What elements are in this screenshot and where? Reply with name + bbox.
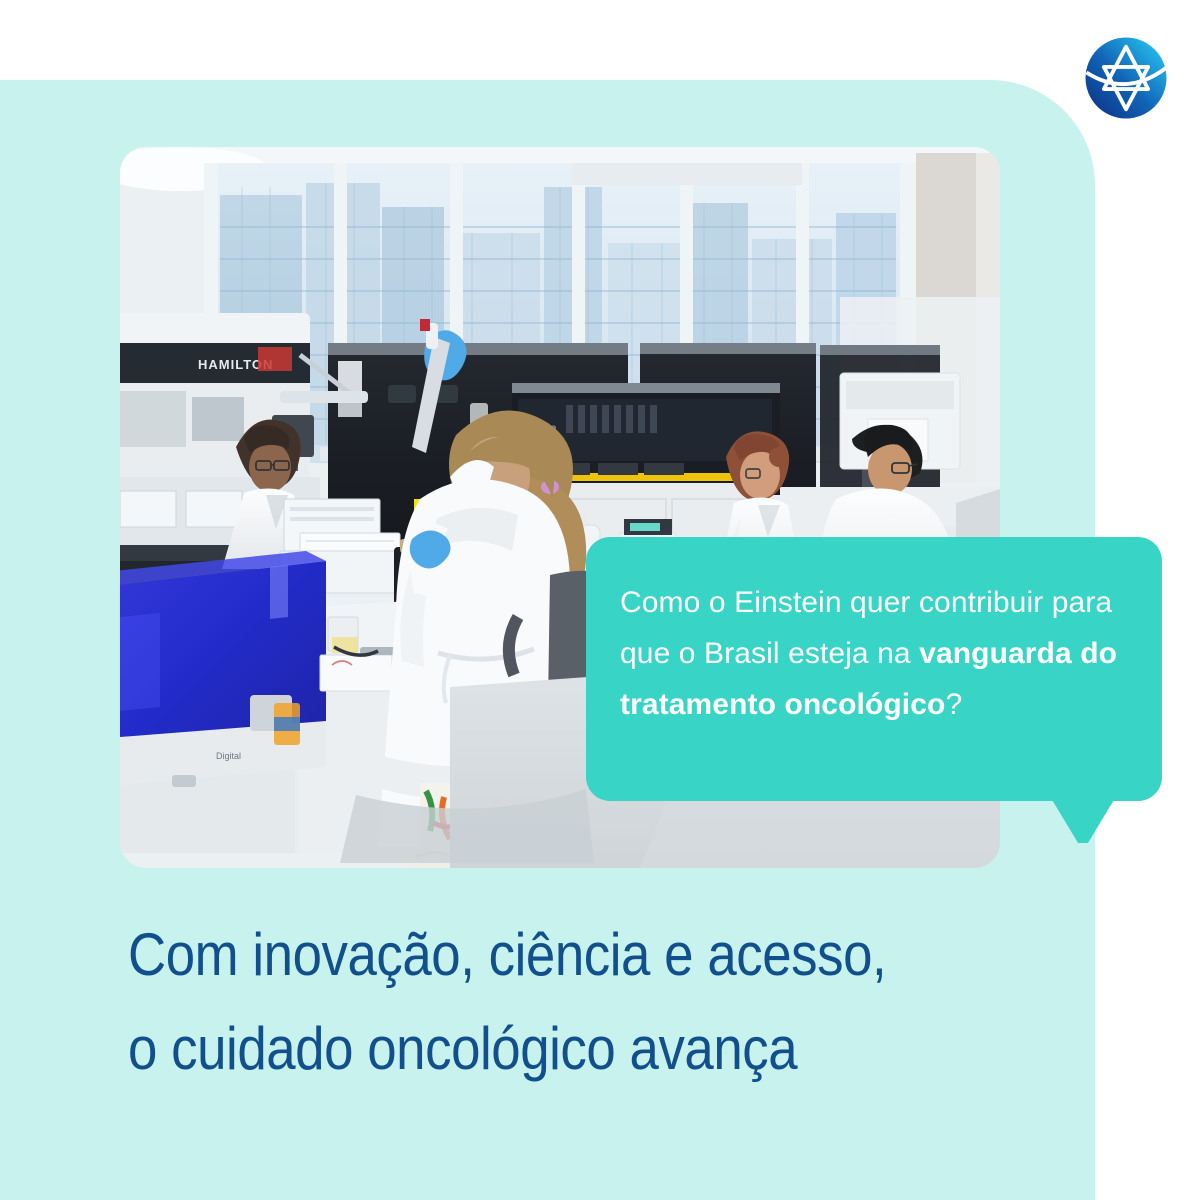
bubble-line-4-bold: tratamento oncológico (620, 688, 945, 721)
bubble-line-3-prefix: esteja na (788, 637, 919, 670)
headline-line-1: Com inovação, ciência e acesso, (128, 908, 946, 1002)
einstein-star-logo-icon (1080, 32, 1172, 124)
speech-bubble-tail (1052, 795, 1114, 843)
einstein-star-logo (1080, 32, 1172, 124)
bubble-line-4-suffix: ? (945, 688, 962, 721)
main-headline: Com inovação, ciência e acesso, o cuidad… (128, 908, 946, 1096)
speech-bubble-text: Como o Einstein quer contribuir para que… (620, 577, 1140, 730)
question-speech-bubble: Como o Einstein quer contribuir para que… (586, 537, 1162, 847)
bubble-line-1: Como o Einstein quer (620, 586, 911, 619)
bubble-line-3-bold: vanguarda do (919, 637, 1117, 670)
headline-line-2: o cuidado oncológico avança (128, 1002, 946, 1096)
